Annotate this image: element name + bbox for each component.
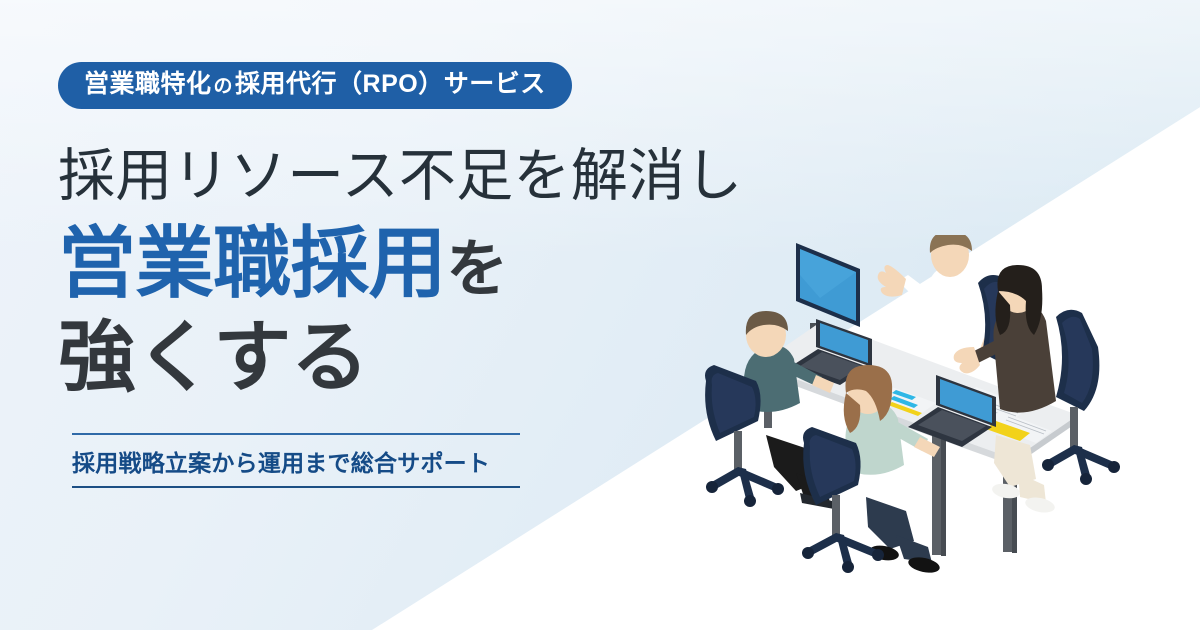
headline-line-3: 強くする xyxy=(58,311,718,403)
chair-wheels-right xyxy=(1042,445,1120,485)
badge-text-particle: の xyxy=(212,76,236,97)
headline-line-2-tail: を xyxy=(446,235,508,304)
hero-banner: 営業職特化の採用代行（RPO）サービス 採用リソース不足を解消し 営業職採用を … xyxy=(0,0,1200,630)
headline-line-2: 営業職採用を xyxy=(58,217,718,309)
isometric-office-meeting-illustration xyxy=(700,235,1140,615)
badge-text-part2: 採用代行（RPO）サービス xyxy=(235,70,546,98)
headline-accent-text: 営業職採用 xyxy=(58,219,446,307)
tagline-container: 採用戦略立案から運用まで総合サポート xyxy=(72,433,520,488)
headline-line-1: 採用リソース不足を解消し xyxy=(58,143,718,210)
service-badge: 営業職特化の採用代行（RPO）サービス xyxy=(58,62,572,109)
hero-content: 営業職特化の採用代行（RPO）サービス 採用リソース不足を解消し 営業職採用を … xyxy=(58,62,718,488)
tagline-text: 採用戦略立案から運用まで総合サポート xyxy=(72,444,520,478)
chair-wheels-front xyxy=(802,533,884,573)
badge-text-part1: 営業職特化 xyxy=(84,70,212,98)
